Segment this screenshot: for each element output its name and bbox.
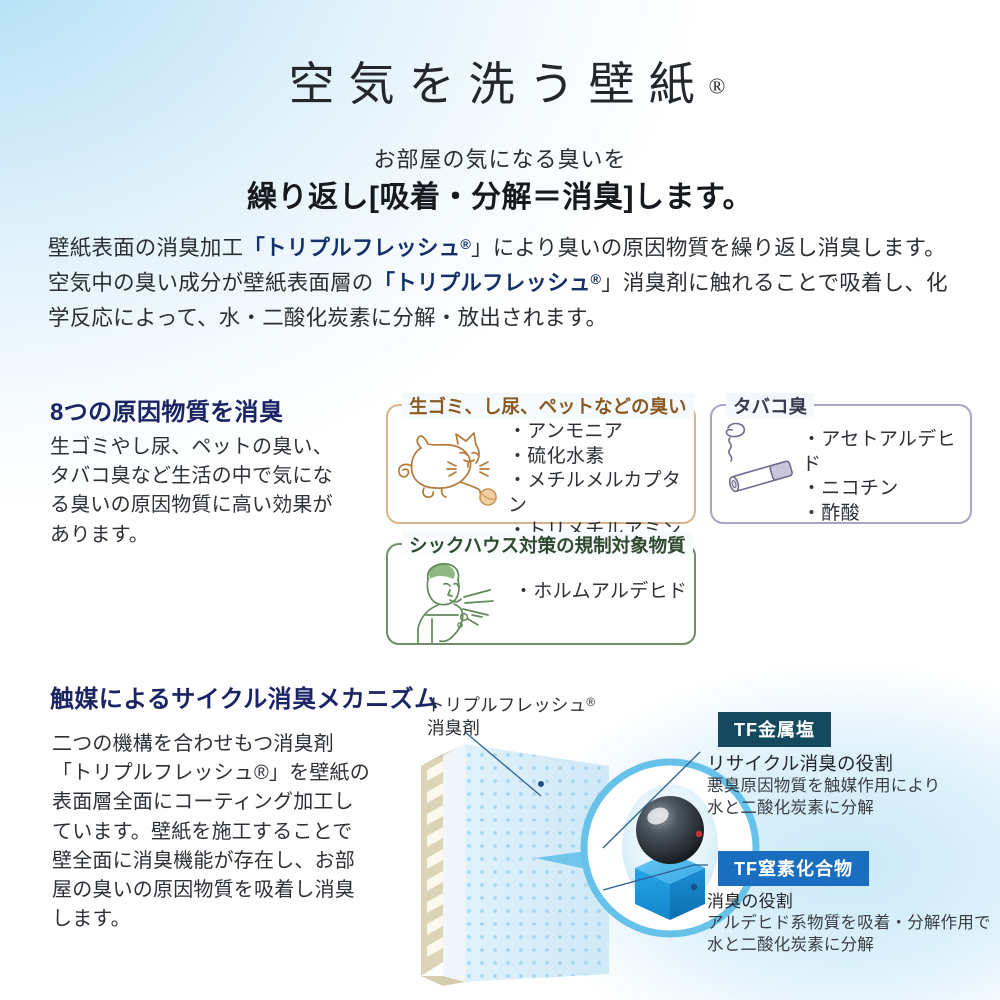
subtitle-line-2: 繰り返し[吸着・分解＝消臭]します。 (0, 172, 1000, 216)
badge-tf-nitrogen-compound: TF窒素化合物 (718, 851, 869, 886)
callout-detail-line-1: アルデヒド系物質を吸着・分解作用で (707, 913, 991, 935)
callout-detail-line-1: 悪臭原因物質を触媒作用により (707, 776, 940, 798)
lead-paragraph: 壁紙表面の消臭加工「トリプルフレッシュ®」により臭いの原因物質を繰り返し消臭しま… (48, 231, 954, 335)
callout-tf-metal-salt-text: リサイクル消臭の役割 悪臭原因物質を触媒作用により 水と二酸化炭素に分解 (707, 752, 940, 820)
wallpaper-coating-label-line2: 消臭剤 (427, 718, 480, 738)
registered-mark-icon: ® (586, 695, 595, 709)
subtitle-line-1: お部屋の気になる臭いを (0, 142, 1000, 174)
list-item: ・酢酸 (802, 502, 970, 527)
mechanism-diagram: トリプルフレッシュ® 消臭剤 TF金属塩 リサイクル消臭の役割 悪臭原因物質を触… (405, 690, 1000, 990)
registered-mark-icon: ® (460, 237, 471, 253)
section-1-heading: 8つの原因物質を消臭 (50, 392, 283, 427)
callout-role: 消臭の役割 (707, 891, 991, 913)
callout-role: リサイクル消臭の役割 (707, 752, 940, 776)
callout-tf-nitrogen-compound-text: 消臭の役割 アルデヒド系物質を吸着・分解作用で 水と二酸化炭素に分解 (707, 891, 991, 957)
list-item: ・アンモニア (508, 420, 694, 445)
page-title: 空気を洗う壁紙® (0, 48, 1000, 114)
odor-box-tobacco: タバコ臭 ・アセトアルデヒド ・ニコチン ・酢酸 (710, 404, 972, 524)
registered-mark-icon: ® (709, 73, 726, 98)
wallpaper-coating-label: トリプルフレッシュ® 消臭剤 (427, 694, 595, 740)
odor-box-tobacco-items: ・アセトアルデヒド ・ニコチン ・酢酸 (802, 428, 970, 527)
odor-box-tobacco-caption: タバコ臭 (726, 393, 814, 419)
list-item: ・ニコチン (802, 477, 970, 502)
odor-box-waste-caption: 生ゴミ、し尿、ペットなどの臭い (402, 393, 694, 419)
section-2-heading: 触媒によるサイクル消臭メカニズム (50, 679, 438, 714)
odor-box-waste: 生ゴミ、し尿、ペットなどの臭い ・アンモニア (386, 404, 696, 524)
brand-triple-fresh-1: 「トリプルフレッシュ® (243, 236, 471, 260)
cat-playing-icon (394, 426, 502, 508)
list-item: ・硫化水素 (508, 445, 694, 470)
callout-detail-line-2: 水と二酸化炭素に分解 (707, 935, 991, 957)
section-2-body: 二つの機構を合わせもつ消臭剤「トリプルフレッシュ®」を壁紙の表面層全面にコーティ… (52, 730, 372, 934)
list-item: ・ホルムアルデヒド (514, 580, 687, 605)
coughing-person-icon (398, 557, 510, 643)
registered-mark-icon: ® (591, 272, 602, 288)
callout-detail-line-2: 水と二酸化炭素に分解 (707, 798, 940, 820)
brand-open-1: 「トリプルフレッシュ (243, 236, 460, 260)
odor-box-waste-items: ・アンモニア ・硫化水素 ・メチルメルカプタン ・トリメチルアミン (508, 420, 694, 543)
brand-close-1: 」 (471, 236, 493, 260)
badge-tf-metal-salt: TF金属塩 (718, 712, 831, 747)
odor-box-sickhouse-items: ・ホルムアルデヒド (514, 580, 687, 605)
page-title-text: 空気を洗う壁紙 (289, 59, 709, 110)
wallpaper-coating-label-line1: トリプルフレッシュ (427, 695, 586, 715)
list-item: ・アセトアルデヒド (802, 428, 970, 477)
lead-text-1: 壁紙表面の消臭加工 (48, 236, 243, 260)
odor-box-sickhouse: シックハウス対策の規制対象物質 ・ホルムアルデヒド (386, 543, 696, 645)
cigarette-icon (716, 420, 802, 496)
section-1-body: 生ゴミやし尿、ペットの臭い、タバコ臭など生活の中で気になる臭いの原因物質に高い効… (50, 433, 350, 550)
brand-close-2: 」 (601, 271, 623, 295)
odor-box-sickhouse-caption: シックハウス対策の規制対象物質 (402, 532, 693, 558)
list-item: ・メチルメルカプタン (508, 469, 694, 518)
brand-open-2: 「トリプルフレッシュ (374, 271, 591, 295)
brand-triple-fresh-2: 「トリプルフレッシュ® (374, 271, 602, 295)
